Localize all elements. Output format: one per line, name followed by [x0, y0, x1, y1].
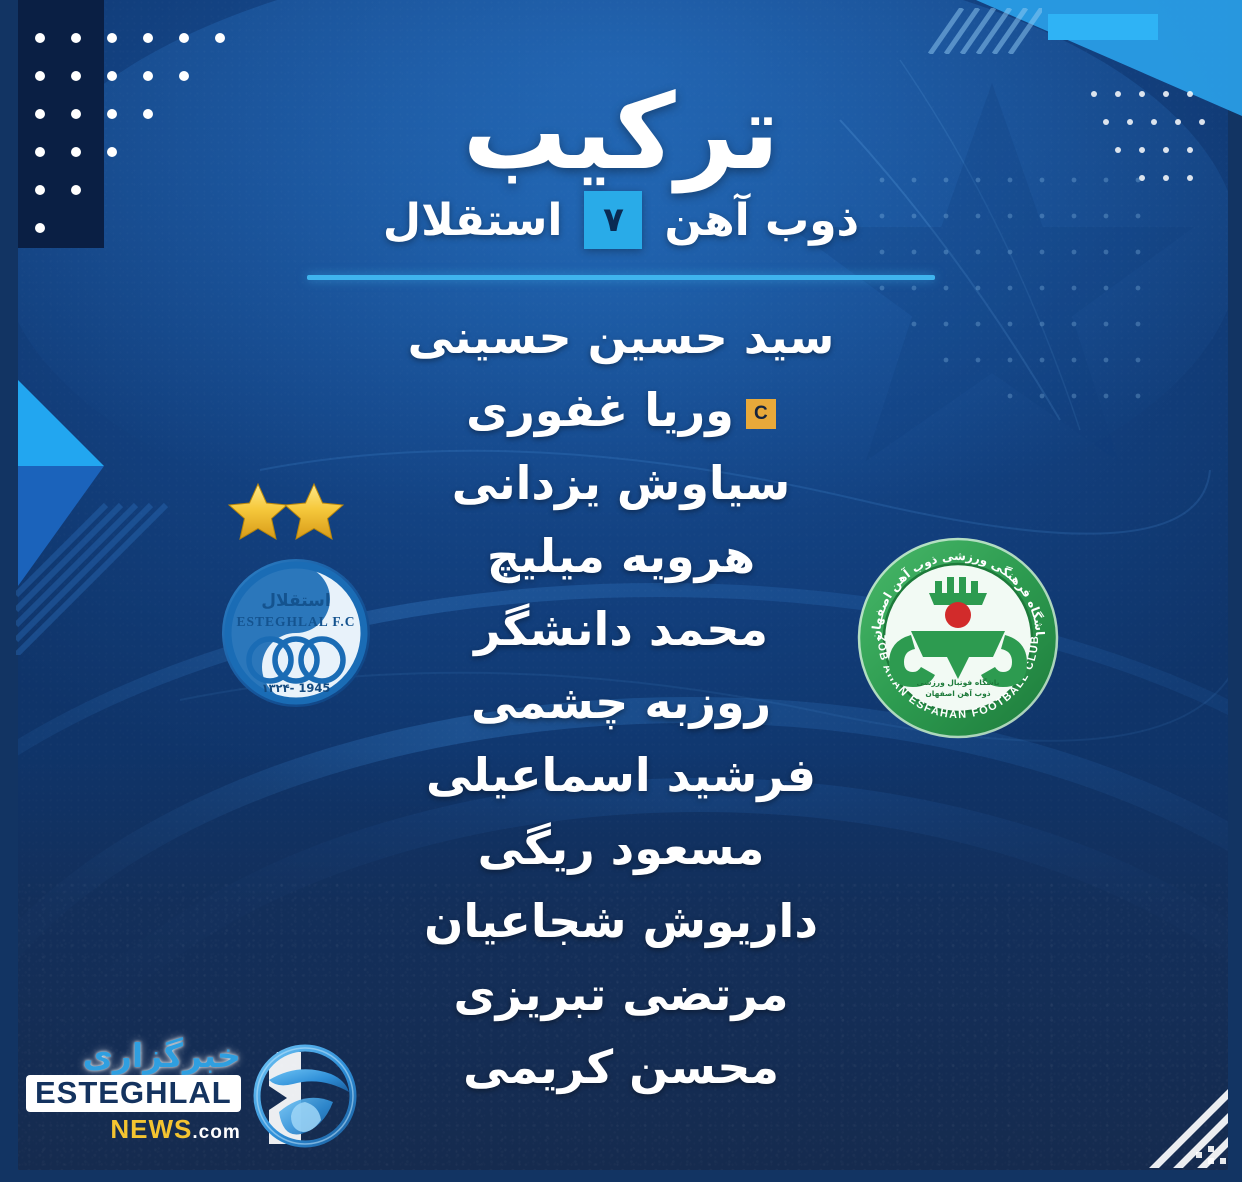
lineup-row: Cوریا غفوری	[0, 373, 1242, 446]
crest-star-left	[229, 484, 287, 539]
player-name: فرشید اسماعیلی	[426, 748, 816, 802]
watermark: خبرگزاری ESTEGHLAL NEWS.com	[26, 1028, 367, 1156]
player-name: سید حسین حسینی	[408, 310, 835, 364]
captain-badge: C	[746, 399, 776, 429]
page-title: ترکیب	[0, 78, 1242, 187]
player-name: وریا غفوری	[466, 383, 734, 437]
header: ترکیب ذوب آهن ۷ استقلال	[0, 78, 1242, 280]
match-teams-row: ذوب آهن ۷ استقلال	[0, 191, 1242, 249]
away-team-name: ذوب آهن	[664, 195, 859, 246]
top-right-cyan-bar	[1048, 14, 1158, 40]
player-name: داریوش شجاعیان	[424, 894, 818, 948]
crest-star-right	[285, 484, 343, 539]
bottom-rail	[0, 1170, 1242, 1182]
lineup-graphic: ترکیب ذوب آهن ۷ استقلال سید حسین حسینیCو…	[0, 0, 1242, 1182]
watermark-news: NEWS.com	[107, 1114, 240, 1145]
crest-text-en: ESTEGHLAL F.C	[236, 614, 355, 629]
watermark-news-word: NEWS	[110, 1114, 192, 1144]
watermark-en: ESTEGHLAL	[26, 1075, 241, 1111]
match-number-badge: ۷	[584, 191, 642, 249]
lineup-row: سید حسین حسینی	[0, 300, 1242, 373]
esteghlal-fc-crest: استقلال ESTEGHLAL F.C 1945 -۱۳۲۴	[196, 478, 396, 714]
top-right-diagonal-stripes	[922, 8, 1042, 54]
lineup-row: مرتضی تبریزی	[0, 957, 1242, 1030]
home-team-name: استقلال	[383, 195, 563, 246]
player-name: محسن کریمی	[463, 1040, 779, 1094]
zobahan-text-fa-inner2: ذوب آهن اصفهان	[925, 688, 990, 698]
lineup-row: داریوش شجاعیان	[0, 884, 1242, 957]
watermark-domain: .com	[192, 1122, 240, 1143]
esteghlal-news-logo-icon	[239, 1028, 367, 1156]
lineup-row: فرشید اسماعیلی	[0, 738, 1242, 811]
player-name: روزبه چشمی	[471, 675, 771, 729]
header-divider	[307, 275, 935, 280]
player-name: سیاوش یزدانی	[452, 456, 790, 510]
lineup-row: سیاوش یزدانی	[0, 446, 1242, 519]
player-name: هرویه میلیچ	[487, 529, 755, 583]
player-name: محمد دانشگر	[474, 602, 768, 656]
player-name: مسعود ریگی	[478, 821, 765, 875]
watermark-fa: خبرگزاری	[83, 1039, 241, 1074]
crest-founded: 1945 -۱۳۲۴	[262, 681, 331, 695]
watermark-text: خبرگزاری ESTEGHLAL NEWS.com	[26, 1039, 241, 1144]
crest-text-fa: استقلال	[261, 591, 330, 611]
lineup-row: مسعود ریگی	[0, 811, 1242, 884]
zobahan-text-fa-inner: باشگاه فوتبال ورزشی	[917, 678, 1000, 687]
zob-ahan-esfahan-crest: باشگاه فرهنگی ورزشی ذوب آهن اصفهان ZOB A…	[855, 535, 1061, 741]
player-name: مرتضی تبریزی	[454, 967, 789, 1021]
